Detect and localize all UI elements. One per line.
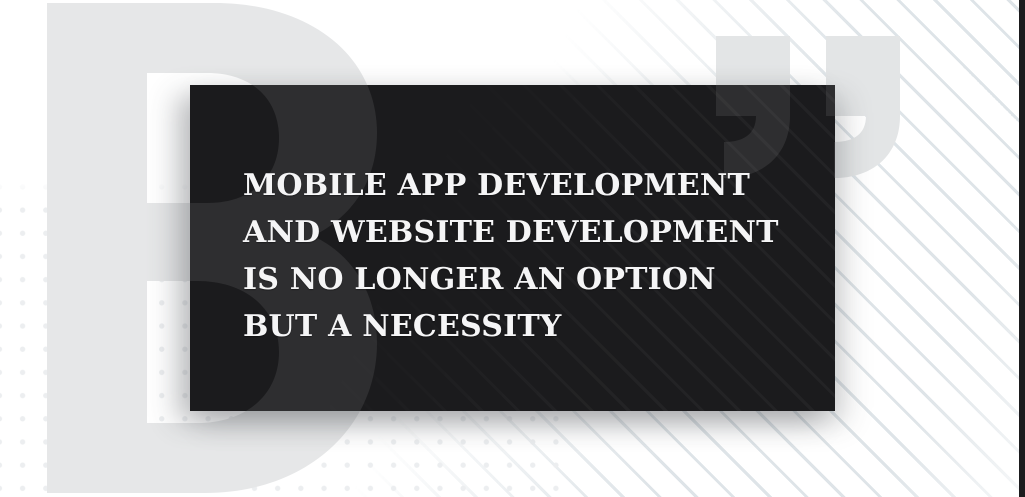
quote-line-3: IS NO LONGER AN OPTION [243,256,803,303]
quote-text: MOBILE APP DEVELOPMENT AND WEBSITE DEVEL… [243,162,803,350]
right-edge-bar [1019,0,1025,497]
quote-line-4: BUT A NECESSITY [243,303,803,350]
quote-card: MOBILE APP DEVELOPMENT AND WEBSITE DEVEL… [190,85,835,411]
quote-banner: MOBILE APP DEVELOPMENT AND WEBSITE DEVEL… [0,0,1025,497]
quote-line-1: MOBILE APP DEVELOPMENT [243,162,803,209]
quote-line-2: AND WEBSITE DEVELOPMENT [243,209,803,256]
